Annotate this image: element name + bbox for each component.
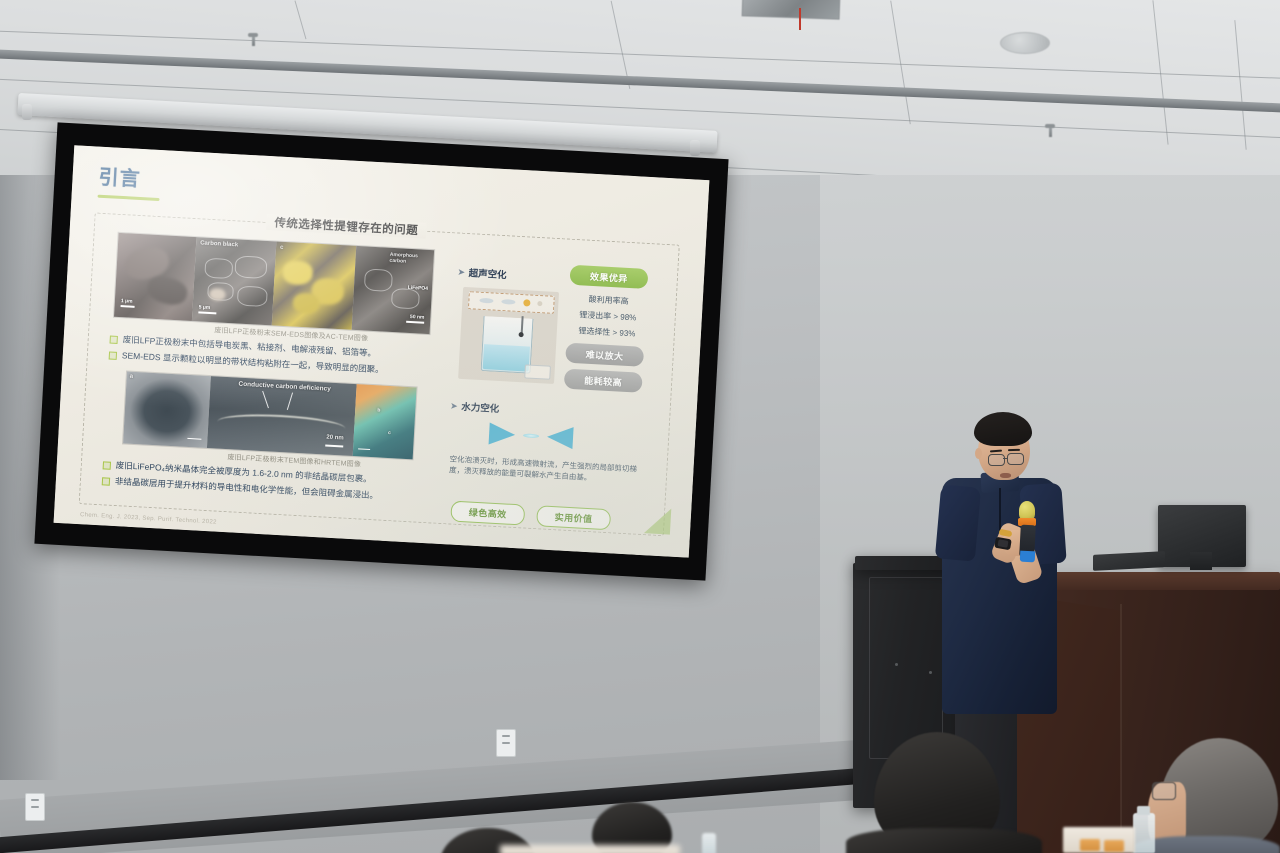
power-outlet [25,793,45,821]
presenter-mouth [1000,473,1011,478]
ceiling-speaker-icon [1000,32,1050,54]
slide-footer-citation: Chem. Eng. J. 2023, Sep. Purif. Technol.… [80,512,217,526]
screen-housing-bracket [690,140,700,156]
glasses-bridge [1003,458,1007,459]
sem-eds-figure: 1 μm Carbon black 5 μm c [113,232,435,335]
glasses-icon [1007,453,1024,465]
presenter-sleeve-left [935,484,981,561]
glasses-icon [988,454,1005,466]
chevron-right-icon: ➤ [450,401,457,410]
glasses-icon [1152,782,1176,800]
sprinkler-icon [248,33,258,37]
food-item [1080,839,1100,851]
decorative-corner [644,507,671,534]
projection-screen: 引言 传统选择性提锂存在的问题 1 μm Carbon black [34,122,728,580]
food-item [1104,840,1124,852]
pill-high-energy: 能耗较高 [564,369,643,393]
legend-box [524,364,551,379]
power-outlet [496,729,516,757]
table-surface [500,845,680,853]
podium-edge-highlight [1120,604,1122,844]
bullet-square-icon [102,477,110,485]
sem-panel-d: Amorphous carbon LiFePO4 50 nm [352,246,434,334]
ceiling-red-wire [799,8,801,30]
bullet-square-icon [110,336,118,344]
presenter-brow [1008,449,1020,451]
sem-panel-b: Carbon black 5 μm [192,237,276,325]
subsection-ultrasonic-cavitation: ➤ 超声空化 [458,265,507,282]
presenter-placket [999,488,1001,532]
presenter-hair [974,412,1032,446]
air-vent-icon [742,0,841,20]
pill-green-efficient: 绿色高效 [450,501,525,526]
audience-shoulder [846,828,1042,853]
screen-housing-bracket [22,104,32,120]
presenter-ear [975,448,982,459]
sprinkler-icon [1045,124,1055,128]
sem-panel-c: c [272,242,356,330]
slide-content: 引言 传统选择性提锂存在的问题 1 μm Carbon black [54,145,710,557]
monitor-stand [1190,552,1212,570]
subsection-label: 水力空化 [461,399,500,415]
tem-panel-c: b c [353,384,417,459]
pill-hard-to-scale: 难以放大 [565,343,644,367]
subsection-hydrodynamic-cavitation: ➤ 水力空化 [450,398,499,415]
ultrasonic-controller-icon [468,291,555,314]
water-bottle [1133,813,1155,853]
bottle-cap [1137,806,1150,815]
subsection-label: 超声空化 [468,265,507,281]
presentation-room-photo: 引言 传统选择性提锂存在的问题 1 μm Carbon black [0,0,1280,853]
pill-effect-excellent: 效果优异 [569,265,648,289]
ultrasonic-setup-diagram [458,287,559,384]
projection-screen-surface: 引言 传统选择性提锂存在的问题 1 μm Carbon black [54,145,710,557]
chevron-right-icon: ➤ [458,267,465,276]
microphone-base [1020,551,1036,563]
cup [702,833,716,853]
beaker-liquid [483,344,530,371]
title-underline [98,195,160,201]
pill-practical-value: 实用价值 [536,505,611,530]
bullet-square-icon [103,461,111,469]
bullet-square-icon [109,351,117,359]
tem-panel-b: Conductive carbon deficiency 20 nm [207,376,357,456]
slide-title: 引言 [98,161,142,192]
tem-panel-a: a [123,372,211,449]
sem-panel-a: 1 μm [114,233,196,321]
